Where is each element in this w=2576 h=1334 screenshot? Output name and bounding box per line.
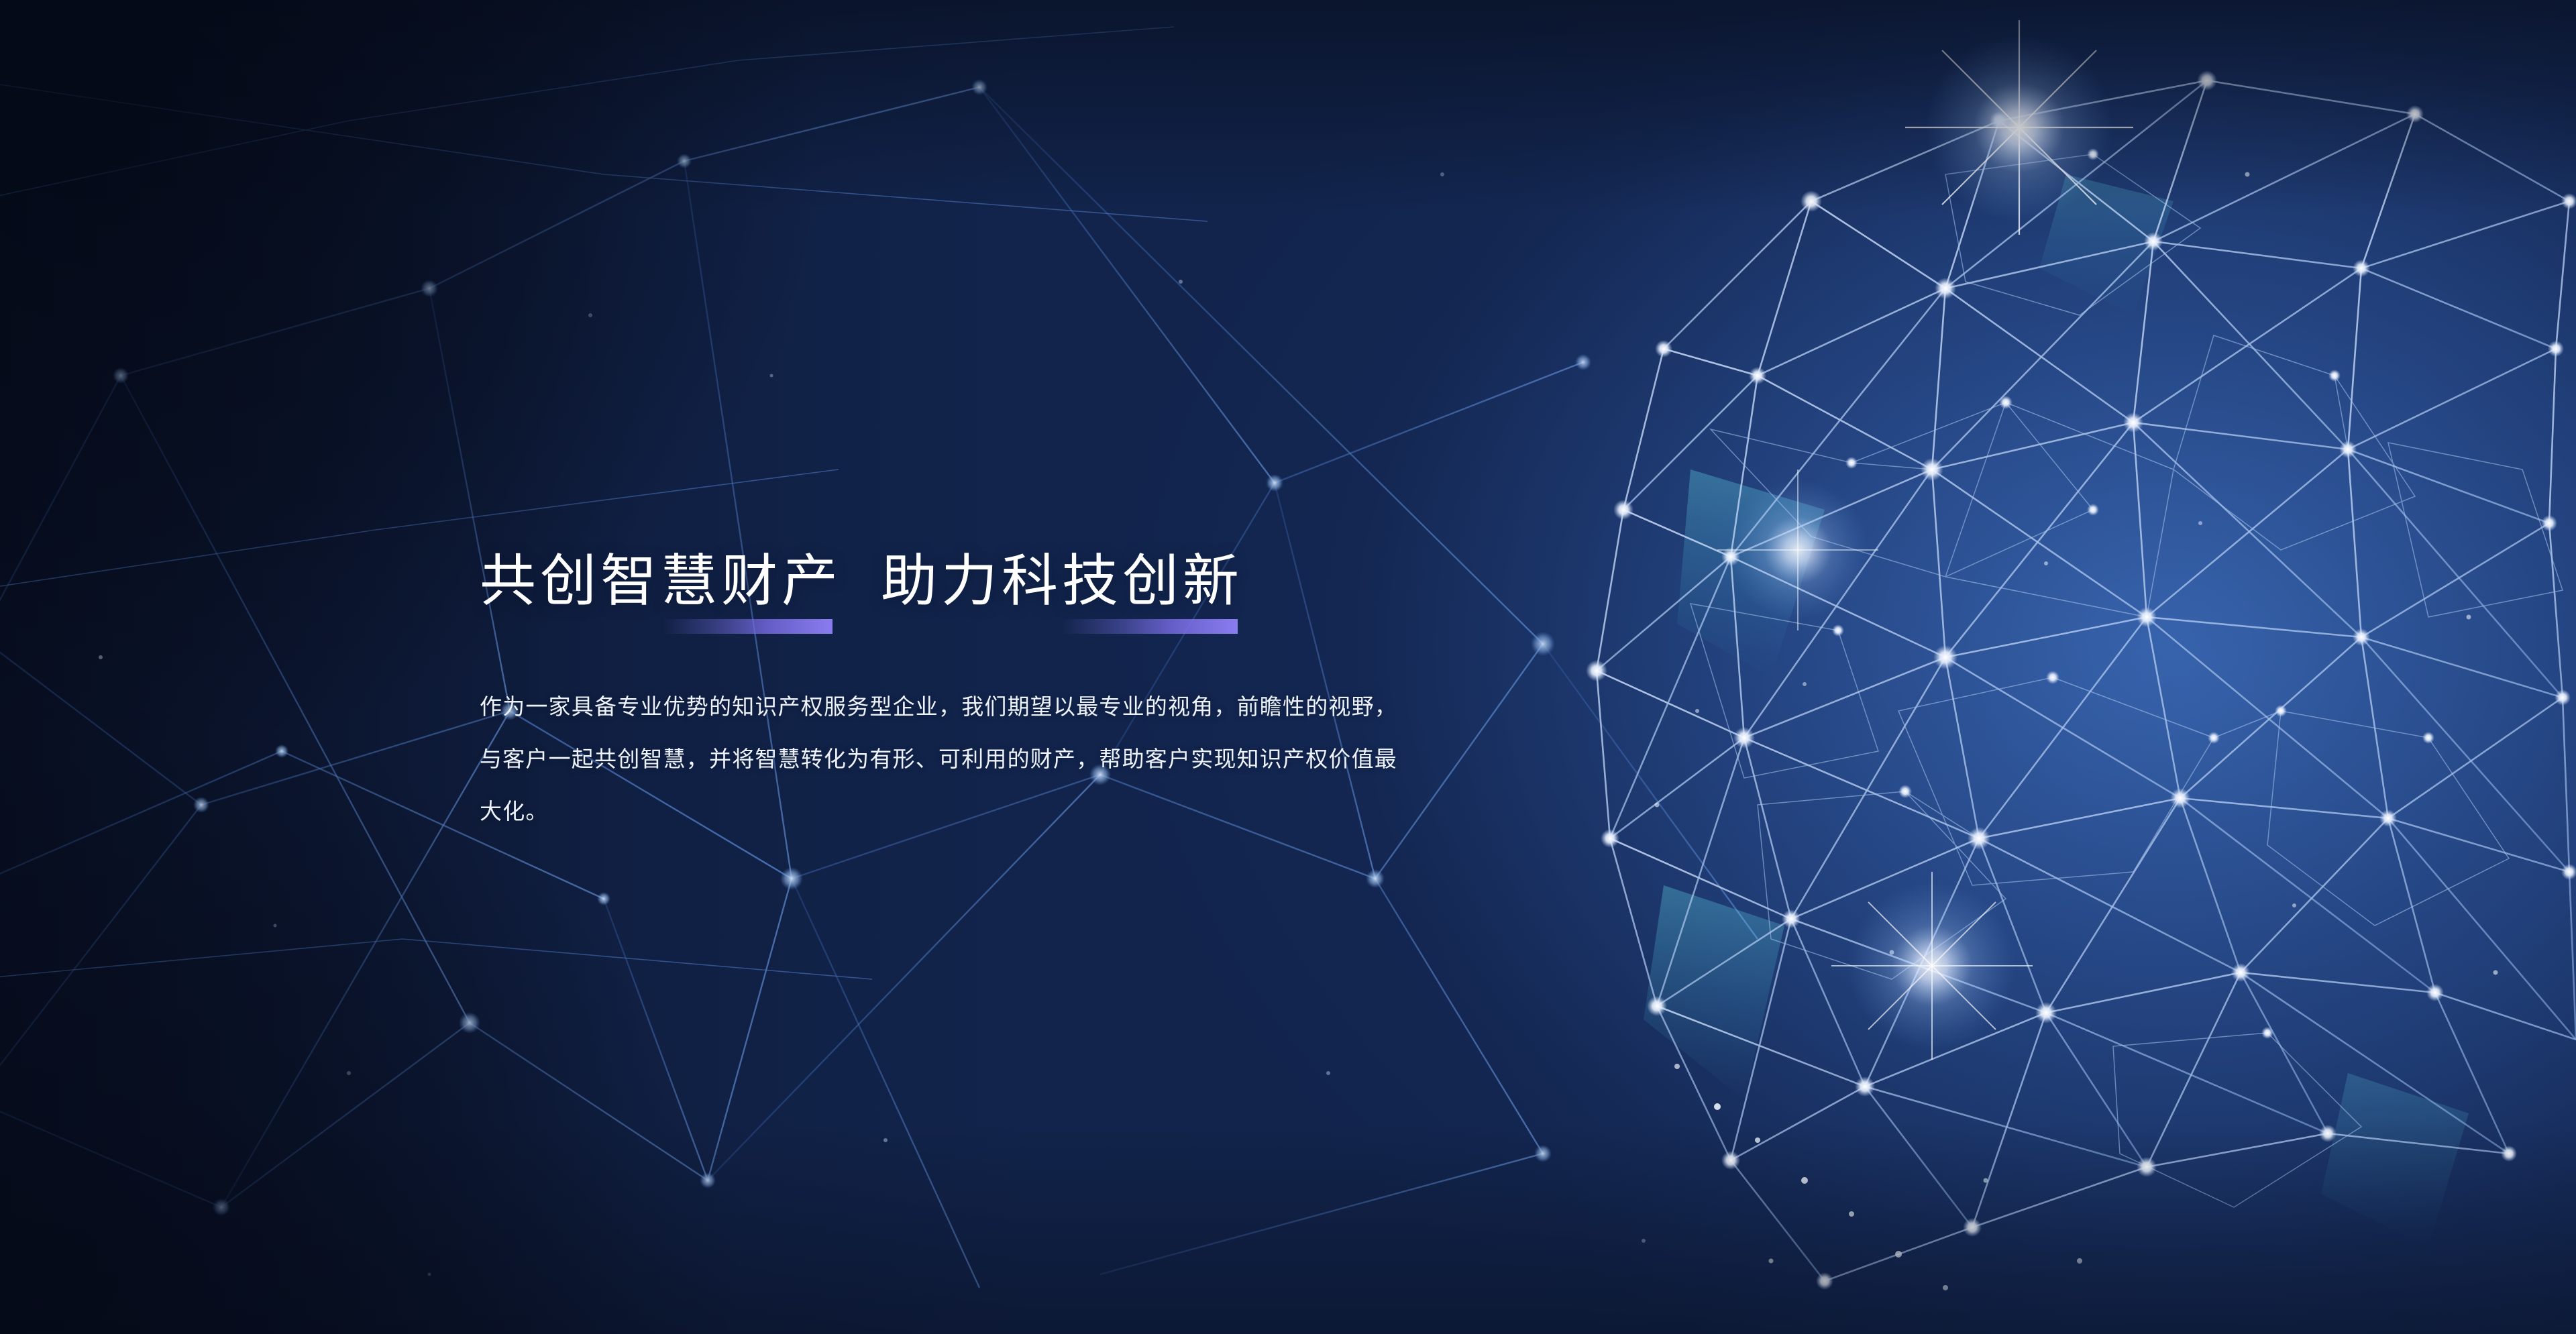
headline-accent-bar-1 xyxy=(663,619,833,634)
headline: 共创智慧财产 助力科技创新 xyxy=(480,551,1432,611)
headline-part-1-text: 共创智慧财产 xyxy=(480,551,842,611)
hero-banner: 共创智慧财产 助力科技创新 作为一家具备专业优势的知识产权服务型企业，我们期望以… xyxy=(0,0,2576,1334)
hero-copy-block: 共创智慧财产 助力科技创新 作为一家具备专业优势的知识产权服务型企业，我们期望以… xyxy=(480,551,1432,860)
headline-accent-bar-2 xyxy=(1062,619,1238,634)
headline-part-1: 共创智慧财产 xyxy=(480,551,842,611)
headline-part-2: 助力科技创新 xyxy=(881,551,1243,611)
headline-part-2-text: 助力科技创新 xyxy=(881,551,1243,611)
hero-description: 作为一家具备专业优势的知识产权服务型企业，我们期望以最专业的视角，前瞻性的视野，… xyxy=(480,681,1419,838)
